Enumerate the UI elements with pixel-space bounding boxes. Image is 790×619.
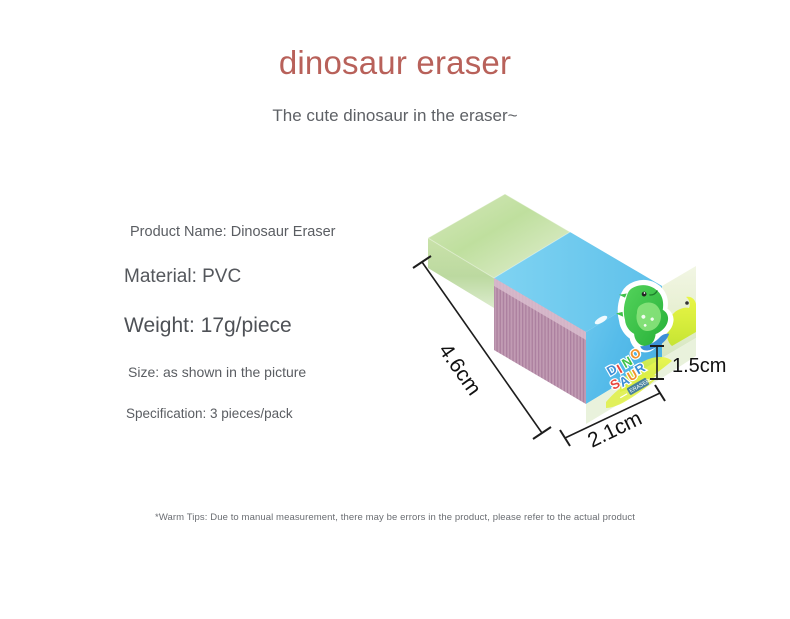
spec-item-product-name: Product Name: Dinosaur Eraser — [124, 224, 454, 240]
dimension-label-height: 1.5cm — [672, 355, 726, 377]
spec-list: Product Name: Dinosaur Eraser Material: … — [124, 224, 454, 421]
product-infographic: dinosaur eraser The cute dinosaur in the… — [0, 0, 790, 619]
spec-item-material: Material: PVC — [124, 266, 454, 288]
spec-item-weight: Weight: 17g/piece — [124, 314, 454, 338]
page-title: dinosaur eraser — [0, 44, 790, 82]
dimension-label-length: 4.6cm — [434, 340, 486, 400]
spec-item-specification: Specification: 3 pieces/pack — [124, 406, 454, 421]
warm-tips-note: *Warm Tips: Due to manual measurement, t… — [0, 512, 790, 523]
spec-item-size: Size: as shown in the picture — [124, 364, 454, 380]
product-photo: D I N O S A U R ERASER — [410, 180, 790, 480]
page-subtitle: The cute dinosaur in the eraser~ — [0, 106, 790, 126]
